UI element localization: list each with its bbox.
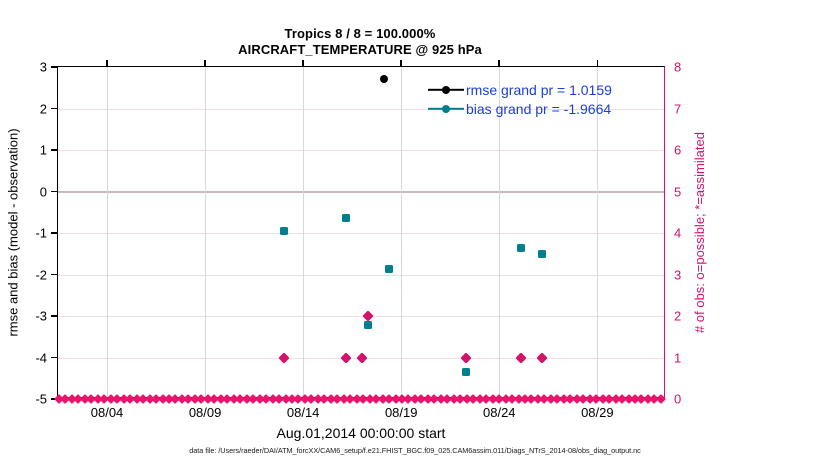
legend-marker-icon	[428, 103, 464, 115]
x-axis-tick	[400, 60, 402, 67]
gridline-horizontal	[58, 316, 664, 317]
data-point-obs-baseline	[656, 394, 666, 404]
y-axis-tick-label-left: 0	[40, 184, 47, 199]
legend-item[interactable]: rmse grand pr = 1.0159	[428, 80, 656, 99]
gridline-horizontal	[58, 233, 664, 234]
x-axis-title: Aug.01,2014 00:00:00 start	[57, 425, 665, 441]
x-axis-tick-label: 08/14	[287, 405, 320, 420]
y-axis-tick-label-right: 4	[674, 226, 681, 241]
data-point-obs-count	[460, 352, 471, 363]
y-axis-tick-label-left: -1	[35, 226, 47, 241]
gridline-vertical	[303, 67, 304, 397]
y-axis-tick-label-right: 0	[674, 392, 681, 407]
gridline-horizontal	[58, 275, 664, 276]
data-point-obs-count	[362, 310, 373, 321]
data-point-rmse	[380, 75, 388, 83]
y-axis-tick-label-right: 7	[674, 101, 681, 116]
legend-item[interactable]: bias grand pr = -1.9664	[428, 99, 656, 118]
gridline-vertical	[107, 67, 108, 397]
y-axis-tick-left	[51, 274, 58, 276]
y-axis-tick-left	[51, 315, 58, 317]
y-axis-tick-left	[51, 357, 58, 359]
x-axis-tick-label: 08/19	[385, 405, 418, 420]
data-point-bias	[462, 368, 470, 376]
x-axis-tick	[597, 60, 599, 67]
data-point-obs-count	[278, 352, 289, 363]
data-point-bias	[517, 244, 525, 252]
y-axis-title-right-text: # of obs: o=possible; *=assimilated	[692, 132, 707, 333]
data-point-obs-count	[341, 352, 352, 363]
x-axis-tick	[106, 60, 108, 67]
y-axis-tick-left	[51, 66, 58, 68]
legend-dot	[442, 105, 450, 113]
y-axis-tick-label-left: -5	[35, 392, 47, 407]
data-point-bias	[342, 214, 350, 222]
x-axis-tick	[302, 60, 304, 67]
data-point-bias	[280, 227, 288, 235]
y-axis-tick-label-left: 1	[40, 143, 47, 158]
y-axis-tick-label-right: 6	[674, 143, 681, 158]
y-axis-tick-label-right: 2	[674, 309, 681, 324]
gridline-vertical	[401, 67, 402, 397]
y-axis-tick-label-right: 8	[674, 60, 681, 75]
zero-reference-line	[58, 191, 664, 194]
data-point-obs-count	[356, 352, 367, 363]
data-point-bias	[364, 321, 372, 329]
y-axis-tick-left	[51, 191, 58, 193]
x-axis-tick	[498, 60, 500, 67]
page-subtitle: AIRCRAFT_TEMPERATURE @ 925 hPa	[0, 42, 720, 57]
legend: rmse grand pr = 1.0159bias grand pr = -1…	[428, 80, 656, 118]
gridline-vertical	[205, 67, 206, 397]
footer-datafile: data file: /Users/raeder/DAI/ATM_forcXX/…	[0, 446, 830, 455]
y-axis-tick-label-right: 5	[674, 184, 681, 199]
legend-label: rmse grand pr = 1.0159	[466, 82, 612, 98]
legend-marker-icon	[428, 84, 464, 96]
page-title: Tropics 8 / 8 = 100.000%	[0, 26, 720, 41]
data-point-obs-count	[537, 352, 548, 363]
y-axis-tick-label-left: 2	[40, 101, 47, 116]
y-axis-tick-label-left: -2	[35, 267, 47, 282]
figure-canvas: Tropics 8 / 8 = 100.000% AIRCRAFT_TEMPER…	[0, 0, 830, 470]
y-axis-title-left: rmse and bias (model - observation)	[4, 66, 22, 398]
y-axis-tick-label-left: 3	[40, 60, 47, 75]
legend-dot	[442, 86, 450, 94]
y-axis-tick-left	[51, 232, 58, 234]
y-axis-tick-label-right: 1	[674, 350, 681, 365]
data-point-obs-count	[515, 352, 526, 363]
x-axis-tick-label: 08/24	[483, 405, 516, 420]
x-axis-tick	[204, 60, 206, 67]
y-axis-tick-label-left: -3	[35, 309, 47, 324]
x-axis-tick-label: 08/29	[581, 405, 614, 420]
y-axis-tick-label-right: 3	[674, 267, 681, 282]
data-point-bias	[538, 250, 546, 258]
y-axis-tick-left	[51, 108, 58, 110]
y-axis-title-right: # of obs: o=possible; *=assimilated	[690, 66, 708, 398]
x-axis-tick-label: 08/09	[189, 405, 222, 420]
y-axis-title-left-text: rmse and bias (model - observation)	[6, 128, 21, 336]
legend-label: bias grand pr = -1.9664	[466, 101, 611, 117]
y-axis-tick-left	[51, 149, 58, 151]
data-point-bias	[385, 265, 393, 273]
x-axis-tick-label: 08/04	[91, 405, 124, 420]
gridline-horizontal	[58, 150, 664, 151]
y-axis-tick-label-left: -4	[35, 350, 47, 365]
